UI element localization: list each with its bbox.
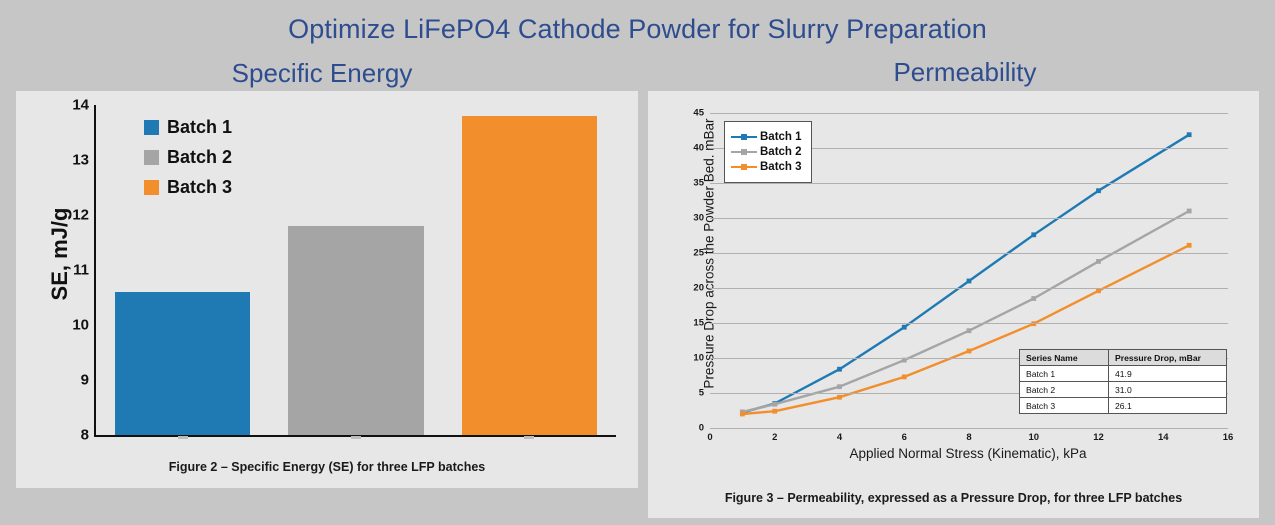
line-legend-item: Batch 3	[731, 161, 802, 173]
bar-chart-y-tick: 9	[81, 372, 89, 389]
table-cell-series-name: Batch 3	[1020, 398, 1109, 414]
line-chart-x-tick: 2	[772, 432, 777, 443]
legend-line-sample-icon	[731, 146, 757, 158]
line-data-point	[902, 325, 907, 330]
table-column-header: Series Name	[1020, 350, 1109, 366]
bar-chart-y-tick: 14	[72, 97, 89, 114]
line-chart-x-tick: 10	[1028, 432, 1039, 443]
line-chart-y-tick: 45	[693, 108, 704, 119]
table-row: Batch 141.9	[1020, 366, 1227, 382]
line-data-point	[1031, 296, 1036, 301]
line-chart-gridline	[710, 113, 1228, 114]
table-cell-series-name: Batch 1	[1020, 366, 1109, 382]
line-legend-item: Batch 1	[731, 131, 802, 143]
bar-chart-specific-energy: SE, mJ/g 891011121314 Batch 1Batch 2Batc…	[16, 91, 638, 451]
bar-chart-x-tick	[351, 436, 361, 439]
bar-legend-item: Batch 1	[144, 117, 232, 138]
section-heading-specific-energy: Specific Energy	[160, 58, 484, 89]
table-cell-pressure-drop: 26.1	[1109, 398, 1227, 414]
table-row: Batch 231.0	[1020, 382, 1227, 398]
line-chart-gridline	[710, 183, 1228, 184]
table-row: Batch 326.1	[1020, 398, 1227, 414]
line-chart-x-tick: 0	[707, 432, 712, 443]
line-data-point	[1187, 132, 1192, 137]
legend-line-sample-icon	[731, 161, 757, 173]
bar-legend-item: Batch 2	[144, 147, 232, 168]
bar-legend-label: Batch 1	[167, 117, 232, 138]
line-chart-gridline	[710, 323, 1228, 324]
bar-batch-3	[462, 116, 597, 435]
line-data-point	[772, 409, 777, 414]
line-chart-x-tick: 6	[902, 432, 907, 443]
legend-line-sample-icon	[731, 131, 757, 143]
bar-chart-y-tick: 12	[72, 207, 89, 224]
line-chart-gridline	[710, 218, 1228, 219]
line-chart-gridline	[710, 253, 1228, 254]
caption-figure-3: Figure 3 – Permeability, expressed as a …	[648, 491, 1259, 505]
legend-swatch-icon	[144, 180, 159, 195]
line-chart-x-tick: 16	[1223, 432, 1234, 443]
line-chart-x-tick: 8	[966, 432, 971, 443]
line-chart-y-tick: 35	[693, 178, 704, 189]
line-chart-gridline	[710, 428, 1228, 429]
line-chart-x-tick: 4	[837, 432, 842, 443]
line-chart-y-tick: 10	[693, 353, 704, 364]
table-column-header: Pressure Drop, mBar	[1109, 350, 1227, 366]
table-header-row: Series NamePressure Drop, mBar	[1020, 350, 1227, 366]
bar-chart-y-axis-label: SE, mJ/g	[47, 164, 73, 344]
bar-chart-y-tick: 8	[81, 427, 89, 444]
slide-canvas: Optimize LiFePO4 Cathode Powder for Slur…	[0, 0, 1275, 525]
line-legend-item: Batch 2	[731, 146, 802, 158]
line-chart-y-tick: 40	[693, 143, 704, 154]
bar-legend-label: Batch 2	[167, 147, 232, 168]
line-data-point	[1096, 259, 1101, 264]
line-legend-label: Batch 2	[760, 146, 802, 158]
line-chart-gridline	[710, 288, 1228, 289]
line-chart-y-tick: 25	[693, 248, 704, 259]
line-chart-legend: Batch 1Batch 2Batch 3	[724, 121, 812, 183]
line-data-point	[967, 349, 972, 354]
line-data-point	[1187, 209, 1192, 214]
page-title: Optimize LiFePO4 Cathode Powder for Slur…	[0, 14, 1275, 45]
line-data-point	[772, 402, 777, 407]
table-cell-pressure-drop: 31.0	[1109, 382, 1227, 398]
line-data-point	[902, 375, 907, 380]
line-chart-x-tick: 12	[1093, 432, 1104, 443]
section-heading-permeability: Permeability	[830, 57, 1100, 88]
table-cell-series-name: Batch 2	[1020, 382, 1109, 398]
legend-swatch-icon	[144, 150, 159, 165]
bar-chart-x-tick	[524, 436, 534, 439]
caption-figure-2: Figure 2 – Specific Energy (SE) for thre…	[16, 460, 638, 474]
line-legend-label: Batch 3	[760, 161, 802, 173]
line-data-point	[837, 367, 842, 372]
line-data-point	[1187, 243, 1192, 248]
line-chart-permeability: Pressure Drop across the Powder Bed. mBa…	[648, 91, 1259, 491]
line-data-point	[740, 412, 745, 417]
legend-swatch-icon	[144, 120, 159, 135]
line-legend-label: Batch 1	[760, 131, 802, 143]
line-chart-y-tick: 5	[699, 388, 704, 399]
line-chart-y-tick: 30	[693, 213, 704, 224]
line-data-point	[837, 395, 842, 400]
bar-batch-1	[115, 292, 250, 435]
bar-chart-y-tick: 10	[72, 317, 89, 334]
bar-legend-label: Batch 3	[167, 177, 232, 198]
line-chart-y-tick: 15	[693, 318, 704, 329]
line-chart-x-tick: 14	[1158, 432, 1169, 443]
bar-legend-item: Batch 3	[144, 177, 232, 198]
line-chart-y-tick: 0	[699, 423, 704, 434]
table-cell-pressure-drop: 41.9	[1109, 366, 1227, 382]
bar-chart-y-tick: 13	[72, 152, 89, 169]
bar-batch-2	[288, 226, 423, 435]
line-data-point	[967, 279, 972, 284]
line-data-point	[1096, 288, 1101, 293]
line-chart-y-tick: 20	[693, 283, 704, 294]
line-chart-x-axis-label: Applied Normal Stress (Kinematic), kPa	[708, 446, 1228, 461]
line-data-point	[967, 328, 972, 333]
bar-chart-x-tick	[178, 436, 188, 439]
line-data-point	[837, 384, 842, 389]
pressure-drop-data-table: Series NamePressure Drop, mBarBatch 141.…	[1019, 349, 1227, 414]
bar-chart-legend: Batch 1Batch 2Batch 3	[144, 117, 232, 207]
line-data-point	[1031, 232, 1036, 237]
bar-chart-y-tick: 11	[73, 262, 89, 279]
line-data-point	[1096, 188, 1101, 193]
